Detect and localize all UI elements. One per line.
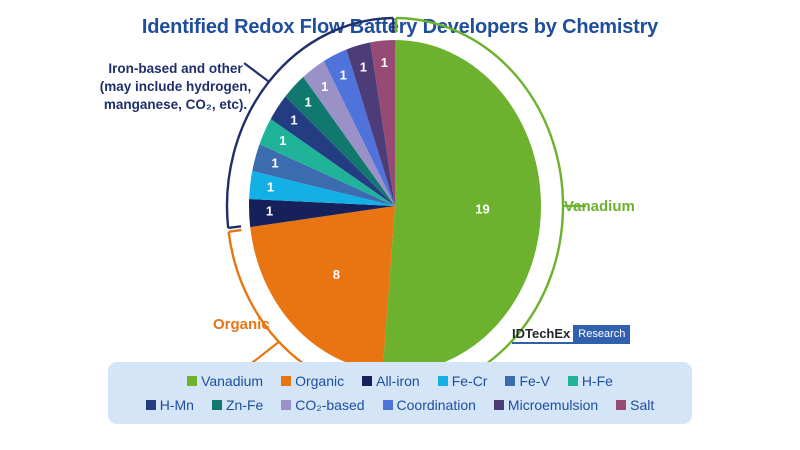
legend-swatch-icon	[212, 400, 222, 410]
legend-swatch-icon	[362, 376, 372, 386]
pie-value-label-salt: 1	[381, 55, 388, 70]
legend-swatch-icon	[505, 376, 515, 386]
pie-value-label-h-fe: 1	[279, 133, 286, 148]
annotation-line-3: manganese, CO₂, etc).	[58, 96, 293, 114]
organic-callout-arc-tick-1	[229, 230, 242, 232]
legend-item-co-based[interactable]: CO₂-based	[281, 397, 364, 413]
pie-value-label-zn-fe: 1	[305, 94, 312, 109]
legend-item-vanadium[interactable]: Vanadium	[187, 373, 263, 389]
pie-value-label-h-mn: 1	[290, 113, 297, 128]
legend-item-fe-cr[interactable]: Fe-Cr	[438, 373, 488, 389]
chart-container: Identified Redox Flow Battery Developers…	[0, 0, 800, 450]
legend-item-label: CO₂-based	[295, 397, 364, 413]
legend-item-label: Fe-V	[519, 373, 549, 389]
legend-item-h-fe[interactable]: H-Fe	[568, 373, 613, 389]
brand-name: IDTechEx	[512, 325, 573, 344]
pie-slice-vanadium[interactable]	[383, 40, 541, 372]
iron-based-annotation: Iron-based and other (may include hydrog…	[58, 60, 293, 113]
pie-value-label-microemulsion: 1	[360, 59, 367, 74]
legend-item-label: Microemulsion	[508, 397, 598, 413]
pie-value-label-vanadium: 19	[475, 202, 489, 217]
pie-value-label-co-based: 1	[321, 79, 328, 94]
legend-item-coordination[interactable]: Coordination	[383, 397, 476, 413]
legend-swatch-icon	[616, 400, 626, 410]
legend-item-organic[interactable]: Organic	[281, 373, 344, 389]
legend-item-label: All-iron	[376, 373, 420, 389]
legend-item-label: Fe-Cr	[452, 373, 488, 389]
legend-item-salt[interactable]: Salt	[616, 397, 654, 413]
legend-item-fe-v[interactable]: Fe-V	[505, 373, 549, 389]
legend-swatch-icon	[494, 400, 504, 410]
legend-item-all-iron[interactable]: All-iron	[362, 373, 420, 389]
idtechex-logo: IDTechEx Research	[512, 325, 630, 344]
pie-value-label-coordination: 1	[340, 67, 347, 82]
organic-callout-label: Organic	[213, 316, 270, 333]
legend-item-label: H-Mn	[160, 397, 194, 413]
legend-row-1: VanadiumOrganicAll-ironFe-CrFe-VH-Fe	[114, 369, 686, 393]
annotation-line-1: Iron-based and other	[58, 60, 293, 78]
legend-swatch-icon	[187, 376, 197, 386]
brand-badge: Research	[573, 325, 630, 344]
legend-panel: VanadiumOrganicAll-ironFe-CrFe-VH-Fe H-M…	[108, 362, 692, 424]
pie-value-label-fe-cr: 1	[267, 179, 274, 194]
vanadium-callout-label: Vanadium	[564, 198, 635, 215]
legend-swatch-icon	[438, 376, 448, 386]
legend-item-label: Salt	[630, 397, 654, 413]
legend-item-label: H-Fe	[582, 373, 613, 389]
legend-swatch-icon	[568, 376, 578, 386]
legend-item-label: Coordination	[397, 397, 476, 413]
legend-item-label: Zn-Fe	[226, 397, 263, 413]
legend-swatch-icon	[281, 376, 291, 386]
legend-item-label: Organic	[295, 373, 344, 389]
legend-swatch-icon	[281, 400, 291, 410]
legend-item-label: Vanadium	[201, 373, 263, 389]
legend-item-h-mn[interactable]: H-Mn	[146, 397, 194, 413]
legend-row-2: H-MnZn-FeCO₂-basedCoordinationMicroemuls…	[114, 393, 686, 417]
legend-item-microemulsion[interactable]: Microemulsion	[494, 397, 598, 413]
legend-swatch-icon	[146, 400, 156, 410]
legend-item-zn-fe[interactable]: Zn-Fe	[212, 397, 263, 413]
legend-swatch-icon	[383, 400, 393, 410]
pie-value-label-organic: 8	[333, 267, 340, 282]
pie-value-label-all-iron: 1	[266, 203, 273, 218]
pie-value-label-fe-v: 1	[271, 156, 278, 171]
iron-group-callout-arc-tick-0	[228, 226, 241, 228]
annotation-line-2: (may include hydrogen,	[58, 78, 293, 96]
